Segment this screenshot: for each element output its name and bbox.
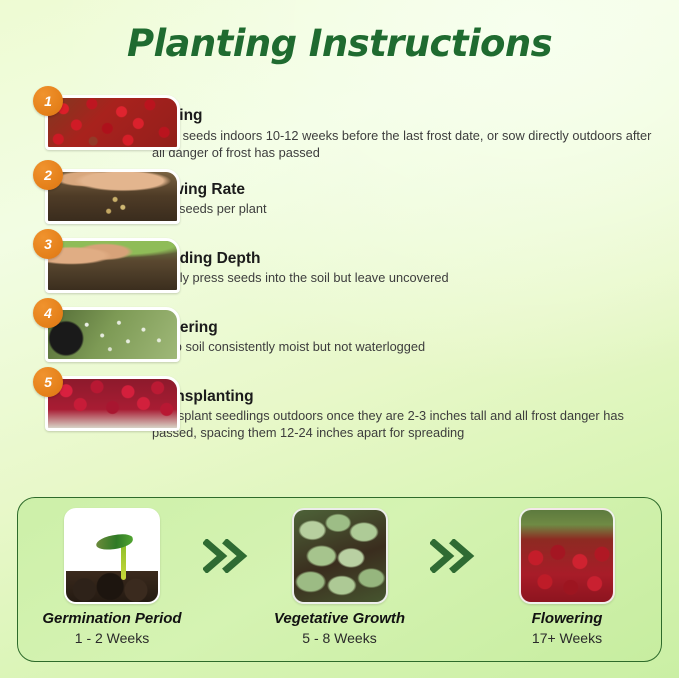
timeline-stage-flowering: Flowering 17+ Weeks bbox=[487, 508, 647, 646]
green-seedlings-photo bbox=[292, 508, 388, 604]
red-flower-field-photo bbox=[45, 95, 180, 150]
steps-list: 1 Timing Start seeds indoors 10-12 weeks… bbox=[0, 95, 679, 449]
step-description: 2-3 seeds per plant bbox=[152, 201, 663, 218]
step-item: 4 Watering Keep soil consistently moist … bbox=[0, 307, 679, 369]
step-description: Transplant seedlings outdoors once they … bbox=[152, 408, 663, 442]
step-title: Sowing Rate bbox=[152, 181, 663, 199]
stage-duration: 1 - 2 Weeks bbox=[32, 630, 192, 646]
step-text: Transplanting Transplant seedlings outdo… bbox=[152, 376, 679, 443]
timeline-stage-germination: Germination Period 1 - 2 Weeks bbox=[32, 508, 192, 646]
photo-texture bbox=[48, 379, 177, 428]
stage-name: Vegetative Growth bbox=[260, 610, 420, 628]
stage-name: Germination Period bbox=[32, 610, 192, 628]
photo-texture bbox=[48, 172, 177, 221]
step-item: 3 Seeding Depth Lightly press seeds into… bbox=[0, 238, 679, 300]
double-chevron-right-icon bbox=[192, 508, 260, 604]
timeline-stage-vegetative: Vegetative Growth 5 - 8 Weeks bbox=[260, 508, 420, 646]
step-item: 1 Timing Start seeds indoors 10-12 weeks… bbox=[0, 95, 679, 162]
step-thumbnail-wrap: 4 bbox=[0, 307, 152, 362]
step-thumbnail-wrap: 5 bbox=[0, 376, 152, 431]
step-text: Timing Start seeds indoors 10-12 weeks b… bbox=[152, 95, 679, 162]
step-number-badge: 5 bbox=[33, 367, 63, 397]
stage-name: Flowering bbox=[487, 610, 647, 628]
hose-watering-spray-photo bbox=[45, 307, 180, 362]
double-chevron-right-icon bbox=[420, 508, 488, 604]
step-title: Timing bbox=[152, 107, 663, 125]
sprout-stem-shape bbox=[121, 543, 126, 580]
growth-timeline: Germination Period 1 - 2 Weeks Vegetativ… bbox=[18, 498, 661, 661]
step-number-badge: 1 bbox=[33, 86, 63, 116]
step-title: Watering bbox=[152, 319, 663, 337]
hands-pressing-seeds-soil-photo bbox=[45, 238, 180, 293]
red-petunia-basket-photo bbox=[45, 376, 180, 431]
step-title: Seeding Depth bbox=[152, 250, 663, 268]
red-flower-bed-photo bbox=[519, 508, 615, 604]
step-thumbnail-wrap: 1 bbox=[0, 95, 152, 150]
seedling-sprout-photo bbox=[64, 508, 160, 604]
step-description: Start seeds indoors 10-12 weeks before t… bbox=[152, 128, 663, 162]
stage-duration: 17+ Weeks bbox=[487, 630, 647, 646]
step-description: Lightly press seeds into the soil but le… bbox=[152, 270, 663, 287]
photo-texture bbox=[48, 241, 177, 290]
step-number-badge: 3 bbox=[33, 229, 63, 259]
step-number-badge: 2 bbox=[33, 160, 63, 190]
step-text: Watering Keep soil consistently moist bu… bbox=[152, 307, 679, 357]
growth-timeline-panel: Germination Period 1 - 2 Weeks Vegetativ… bbox=[17, 497, 662, 662]
hands-sowing-seeds-photo bbox=[45, 169, 180, 224]
step-text: Seeding Depth Lightly press seeds into t… bbox=[152, 238, 679, 288]
stage-duration: 5 - 8 Weeks bbox=[260, 630, 420, 646]
step-thumbnail-wrap: 3 bbox=[0, 238, 152, 293]
photo-texture bbox=[48, 310, 177, 359]
step-description: Keep soil consistently moist but not wat… bbox=[152, 339, 663, 356]
sprout-leaf-shape bbox=[96, 533, 134, 551]
step-number-badge: 4 bbox=[33, 298, 63, 328]
step-item: 5 Transplanting Transplant seedlings out… bbox=[0, 376, 679, 443]
planting-instructions-infographic: Planting Instructions 1 Timing Start see… bbox=[0, 0, 679, 678]
step-item: 2 Sowing Rate 2-3 seeds per plant bbox=[0, 169, 679, 231]
photo-texture bbox=[48, 98, 177, 147]
step-title: Transplanting bbox=[152, 388, 663, 406]
page-title: Planting Instructions bbox=[0, 22, 679, 65]
step-thumbnail-wrap: 2 bbox=[0, 169, 152, 224]
step-text: Sowing Rate 2-3 seeds per plant bbox=[152, 169, 679, 219]
